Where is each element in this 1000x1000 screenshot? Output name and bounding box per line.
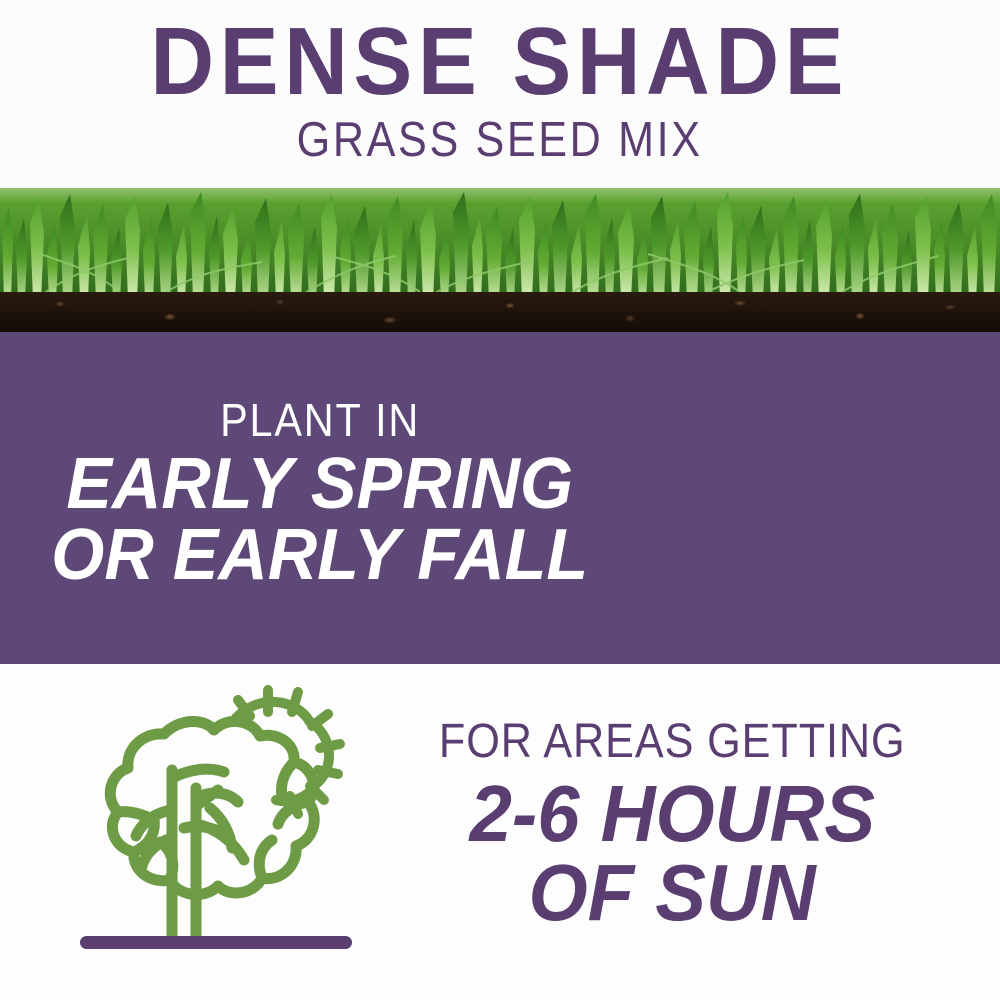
sun-eyebrow: FOR AREAS GETTING	[439, 718, 906, 766]
tree-icon	[110, 721, 314, 940]
tree-sun-svg	[72, 678, 372, 978]
sun-headline-line1: 2-6 HOURS	[469, 774, 874, 853]
header-section: DENSE SHADE GRASS SEED MIX	[0, 0, 1000, 190]
planting-headline-line1: EARLY SPRING	[67, 449, 574, 520]
page-title: DENSE SHADE	[151, 14, 850, 110]
grass-blades	[0, 188, 1000, 296]
page-subtitle: GRASS SEED MIX	[297, 116, 703, 165]
planting-season-panel: PLANT IN EARLY SPRING OR EARLY FALL	[0, 332, 1000, 664]
grass-blade-overlay	[0, 188, 1000, 300]
soil-layer	[0, 292, 1000, 332]
planting-text-block: PLANT IN EARLY SPRING OR EARLY FALL	[0, 332, 640, 664]
sun-headline-line2: OF SUN	[528, 853, 815, 932]
product-infographic: DENSE SHADE GRASS SEED MIX	[0, 0, 1000, 1000]
tree-sun-icon-group	[72, 678, 372, 978]
planting-eyebrow: PLANT IN	[220, 397, 420, 443]
planting-headline-line2: OR EARLY FALL	[51, 520, 588, 591]
sun-text-block: FOR AREAS GETTING 2-6 HOURS OF SUN	[378, 664, 966, 1000]
ground-line	[80, 936, 352, 949]
sun-exposure-panel: FOR AREAS GETTING 2-6 HOURS OF SUN	[0, 664, 1000, 1000]
grass-soil-photo	[0, 188, 1000, 332]
